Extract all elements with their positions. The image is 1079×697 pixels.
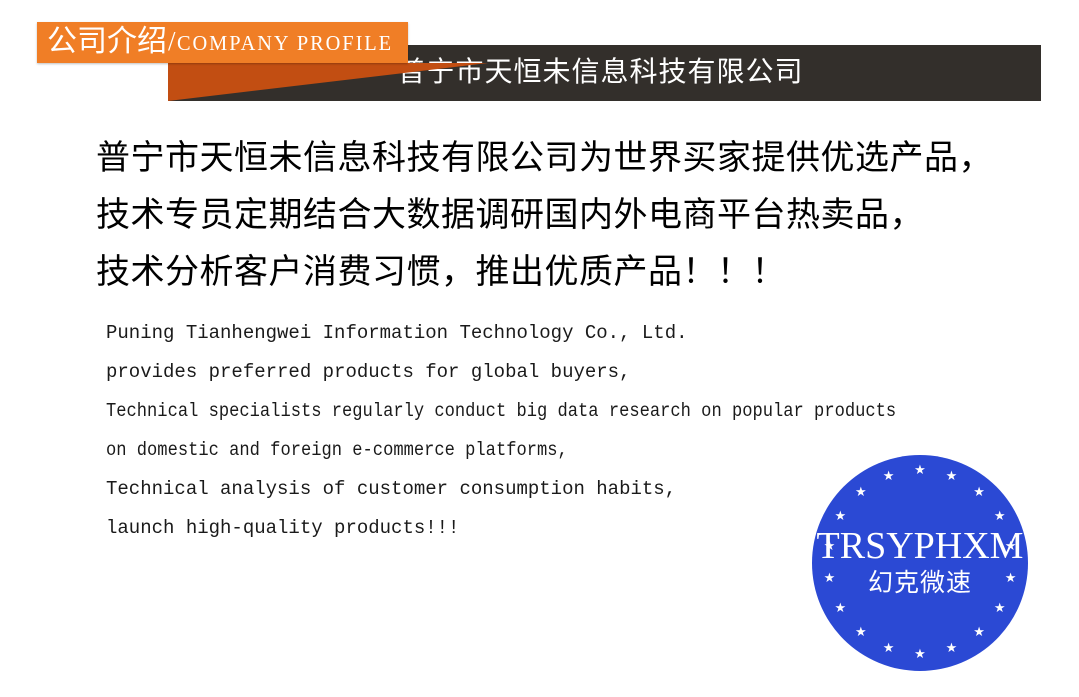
page-header: 普宁市天恒未信息科技有限公司 公司介绍 / COMPANY PROFILE xyxy=(0,0,1079,110)
brand-logo-stamp: ★★★★★★★★★★★★★★★★★★ TRSYPHXM 幻克微速 xyxy=(812,455,1028,671)
chinese-line: 技术专员定期结合大数据调研国内外电商平台热卖品， xyxy=(96,187,1056,244)
chinese-line: 技术分析客户消费习惯，推出优质产品！！！ xyxy=(96,244,1056,301)
logo-brand-en: TRSYPHXM xyxy=(817,526,1024,566)
logo-circle-background: ★★★★★★★★★★★★★★★★★★ TRSYPHXM 幻克微速 xyxy=(812,455,1028,671)
section-tab-label-cn: 公司介绍 xyxy=(47,27,167,57)
logo-brand-cn: 幻克微速 xyxy=(868,568,972,598)
chinese-line: 普宁市天恒未信息科技有限公司为世界买家提供优选产品， xyxy=(96,130,1056,187)
english-line: Puning Tianhengwei Information Technolog… xyxy=(106,314,1056,353)
section-tab-inner: 公司介绍 / COMPANY PROFILE xyxy=(37,22,408,63)
logo-text-group: TRSYPHXM 幻克微速 xyxy=(812,455,1028,671)
section-tab: 公司介绍 / COMPANY PROFILE xyxy=(37,22,408,63)
chinese-description-block: 普宁市天恒未信息科技有限公司为世界买家提供优选产品， 技术专员定期结合大数据调研… xyxy=(96,130,1056,301)
english-line: Technical specialists regularly conduct … xyxy=(106,392,961,431)
section-tab-label-en: COMPANY PROFILE xyxy=(177,31,393,56)
english-line: provides preferred products for global b… xyxy=(106,353,1056,392)
section-tab-separator: / xyxy=(168,26,176,57)
